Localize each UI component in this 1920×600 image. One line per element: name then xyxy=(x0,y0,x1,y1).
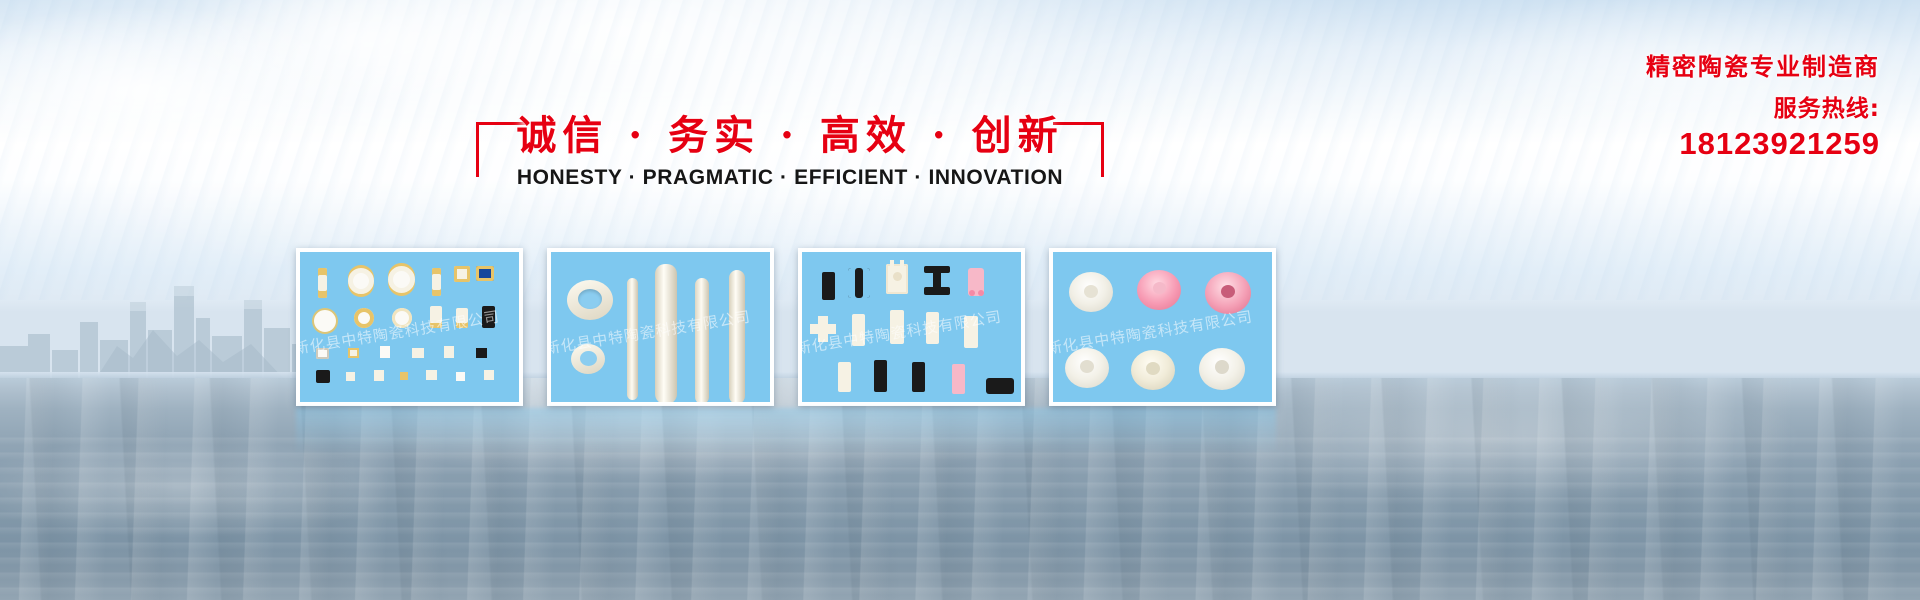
product-panel-1[interactable]: 新化县中特陶瓷科技有限公司 xyxy=(296,248,523,406)
slogan-block: 诚信 · 务实 · 高效 · 创新 HONESTY · PRAGMATIC · … xyxy=(470,108,1110,204)
slogan-english: HONESTY · PRAGMATIC · EFFICIENT · INNOVA… xyxy=(470,166,1110,190)
panel-2-contents xyxy=(551,252,770,402)
product-panel-2[interactable]: 新化县中特陶瓷科技有限公司 xyxy=(547,248,774,406)
wet-ground xyxy=(0,378,1920,600)
slogan-chinese: 诚信 · 务实 · 高效 · 创新 xyxy=(470,108,1110,164)
product-panel-4[interactable]: 新化县中特陶瓷科技有限公司 xyxy=(1049,248,1276,406)
hero-banner: 诚信 · 务实 · 高效 · 创新 HONESTY · PRAGMATIC · … xyxy=(0,0,1920,600)
hotline-label: 服务热线: xyxy=(1440,92,1880,126)
contact-block: 精密陶瓷专业制造商 服务热线: 18123921259 xyxy=(1440,52,1880,162)
company-tagline: 精密陶瓷专业制造商 xyxy=(1440,52,1880,82)
panel-4-contents xyxy=(1053,252,1272,402)
panel-3-contents xyxy=(802,252,1021,402)
product-panel-3[interactable]: 新化县中特陶瓷科技有限公司 xyxy=(798,248,1025,406)
hotline-phone[interactable]: 18123921259 xyxy=(1440,126,1880,162)
panel-1-contents xyxy=(300,252,519,402)
mountain-silhouette xyxy=(95,300,285,380)
product-panel-strip: 新化县中特陶瓷科技有限公司 新化县中特陶瓷科技有限公司 xyxy=(296,248,1276,406)
